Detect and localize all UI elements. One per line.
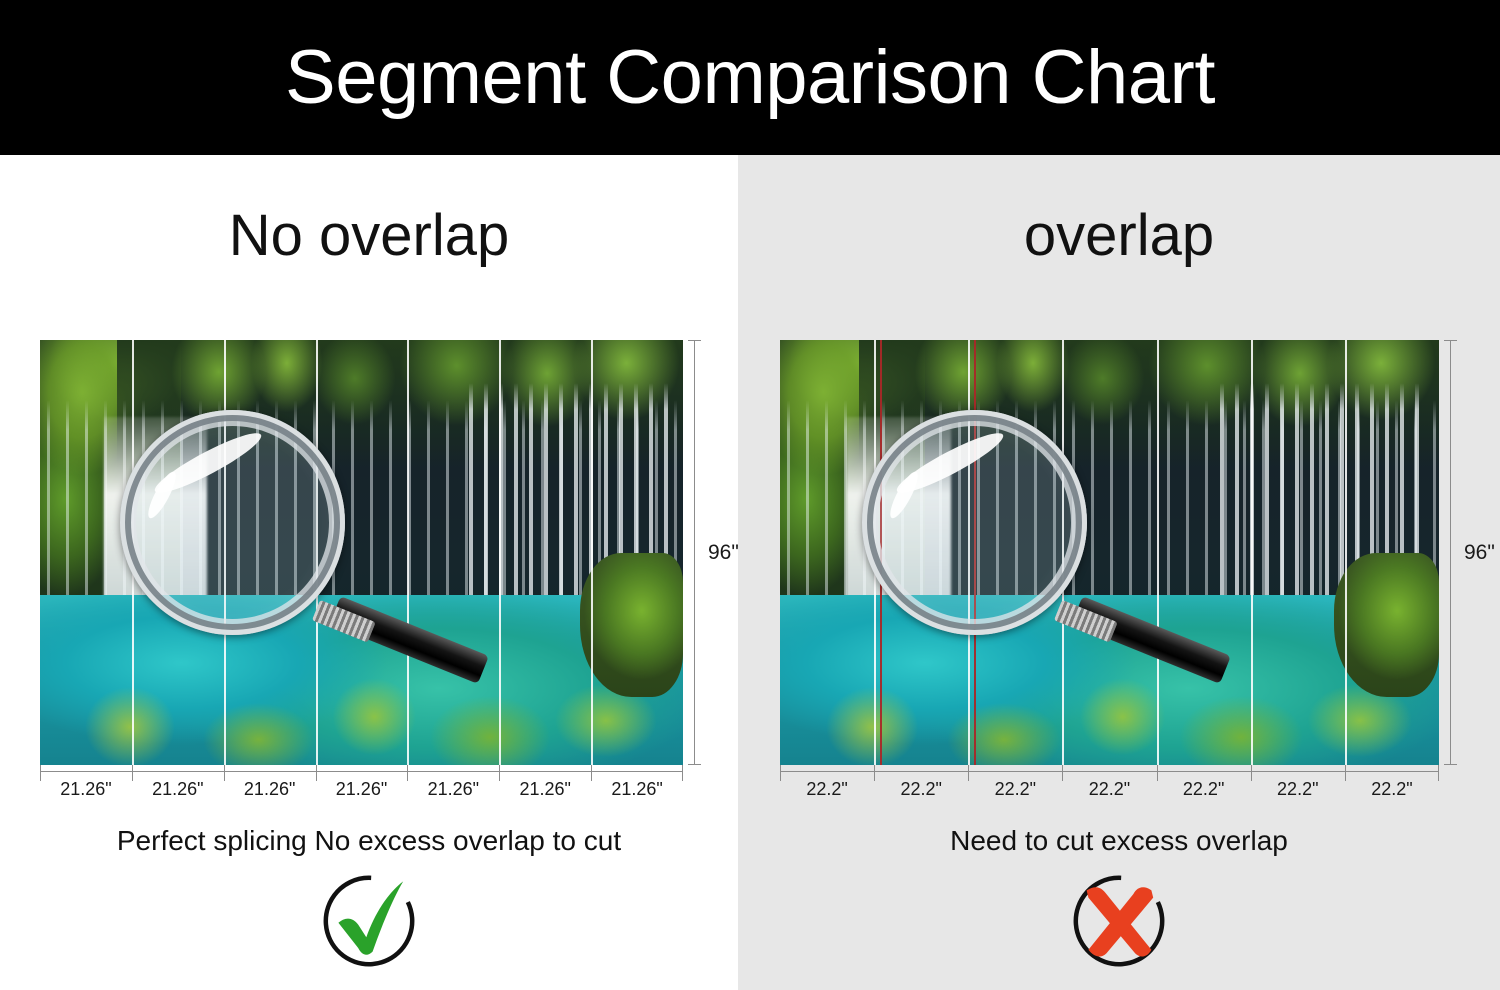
- segment-width-label: 22.2": [1251, 779, 1345, 800]
- green-check-circle-icon: [315, 867, 423, 975]
- mural-photo-overlap: [780, 340, 1439, 765]
- page-title: Segment Comparison Chart: [285, 40, 1215, 116]
- segment-width-label: 22.2": [780, 779, 874, 800]
- segment-width-label: 21.26": [40, 779, 132, 800]
- segment-width-label: 21.26": [316, 779, 408, 800]
- panel-overlap: overlap: [738, 155, 1500, 990]
- mural-photo-no-overlap: [40, 340, 683, 765]
- segment-width-label: 22.2": [1157, 779, 1251, 800]
- segment-width-label: 21.26": [407, 779, 499, 800]
- width-ruler-overlap: 22.2" 22.2" 22.2" 22.2" 22.2" 22.2" 22.2…: [780, 771, 1439, 813]
- segment-divider-lines-no-overlap: [40, 340, 683, 765]
- panel-no-overlap: No overlap: [0, 155, 738, 990]
- verdict-overlap: [738, 867, 1500, 975]
- segment-width-label: 21.26": [499, 779, 591, 800]
- panel-title-overlap: overlap: [738, 207, 1500, 265]
- verdict-no-overlap: [0, 867, 738, 975]
- caption-overlap: Need to cut excess overlap: [738, 827, 1500, 855]
- width-ruler-no-overlap: 21.26" 21.26" 21.26" 21.26" 21.26" 21.26…: [40, 771, 683, 813]
- segment-width-label: 22.2": [1062, 779, 1156, 800]
- height-label: 96": [708, 541, 739, 565]
- comparison-panels: No overlap: [0, 155, 1500, 990]
- caption-no-overlap: Perfect splicing No excess overlap to cu…: [0, 827, 738, 855]
- segment-width-label: 21.26": [591, 779, 683, 800]
- mural-block-overlap: 22.2" 22.2" 22.2" 22.2" 22.2" 22.2" 22.2…: [780, 340, 1439, 813]
- red-cross-circle-icon: [1065, 867, 1173, 975]
- header-banner: Segment Comparison Chart: [0, 0, 1500, 155]
- segment-divider-lines-overlap: [780, 340, 1439, 765]
- segment-width-label: 22.2": [968, 779, 1062, 800]
- segment-width-label: 22.2": [874, 779, 968, 800]
- segment-width-label: 22.2": [1345, 779, 1439, 800]
- segment-width-label: 21.26": [224, 779, 316, 800]
- panel-title-no-overlap: No overlap: [0, 207, 738, 265]
- height-label: 96": [1464, 541, 1495, 565]
- segment-width-label: 21.26": [132, 779, 224, 800]
- mural-block-no-overlap: 21.26" 21.26" 21.26" 21.26" 21.26" 21.26…: [40, 340, 683, 813]
